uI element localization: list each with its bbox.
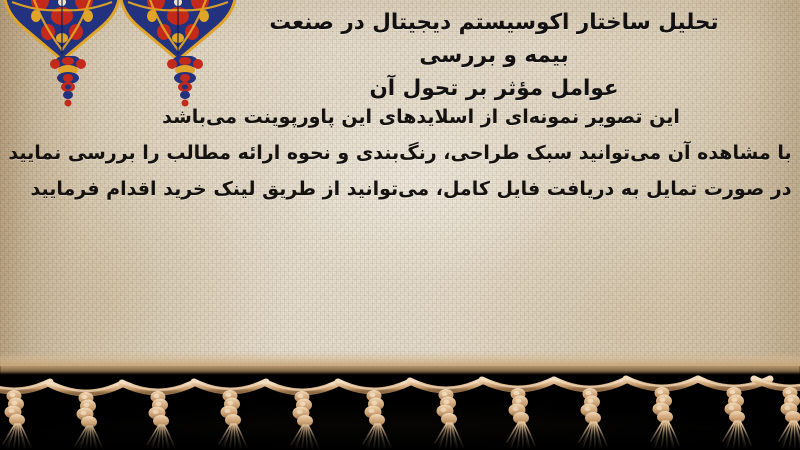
- slide-canvas: تحلیل ساختار اکوسیستم دیجیتال در صنعت بی…: [0, 0, 800, 450]
- page-title: تحلیل ساختار اکوسیستم دیجیتال در صنعت بی…: [0, 6, 800, 105]
- slide-text-layer: تحلیل ساختار اکوسیستم دیجیتال در صنعت بی…: [0, 0, 800, 376]
- body-text-block: این تصویر نمونه‌ای از اسلایدهای این پاور…: [0, 106, 800, 214]
- fringe-fade-to-black: [0, 424, 800, 450]
- title-line-2: عوامل مؤثر بر تحول آن: [244, 72, 744, 105]
- body-line-3: در صورت تمایل به دریافت فایل کامل، می‌تو…: [0, 178, 800, 200]
- title-line-1: تحلیل ساختار اکوسیستم دیجیتال در صنعت بی…: [244, 6, 744, 72]
- body-line-1: این تصویر نمونه‌ای از اسلایدهای این پاور…: [0, 106, 800, 128]
- body-line-2: با مشاهده آن می‌توانید سبک طراحی، رنگ‌بن…: [0, 142, 800, 164]
